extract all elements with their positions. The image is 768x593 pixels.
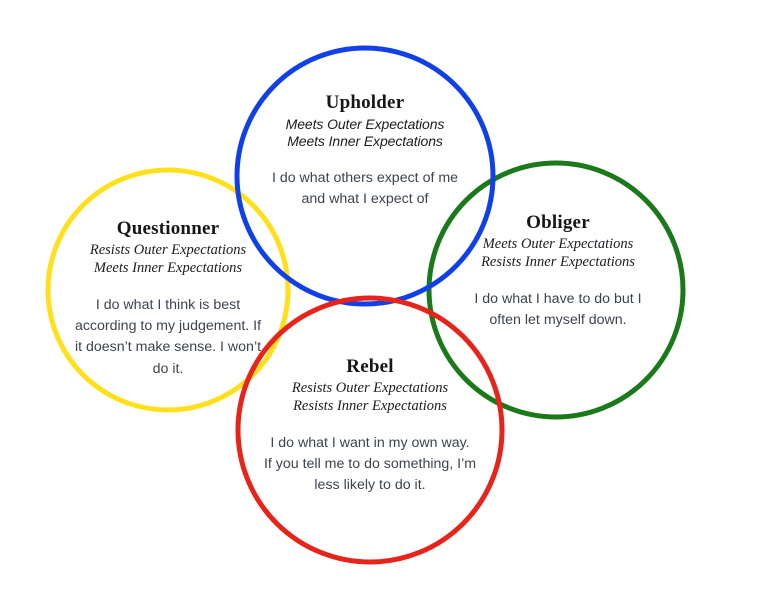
body-upholder: I do what others expect of me and what I… — [236, 168, 494, 211]
subtitle-obliger-outer: Meets Outer Expectations — [434, 236, 682, 254]
title-questionner: Questionner — [44, 218, 292, 240]
label-upholder: Upholder Meets Outer Expectations Meets … — [236, 92, 494, 210]
body-obliger: I do what I have to do but I often let m… — [434, 289, 682, 332]
label-obliger: Obliger Meets Outer Expectations Resists… — [434, 212, 682, 331]
label-rebel: Rebel Resists Outer Expectations Resists… — [240, 356, 500, 497]
title-obliger: Obliger — [434, 212, 682, 234]
body-rebel: I do what I want in my own way. If you t… — [240, 433, 500, 497]
body-line: If you tell me to do something, I’m — [240, 454, 500, 475]
four-tendencies-diagram: Upholder Meets Outer Expectations Meets … — [0, 0, 768, 593]
subtitle-rebel-outer: Resists Outer Expectations — [240, 380, 500, 398]
subtitle-obliger-inner: Resists Inner Expectations — [434, 254, 682, 272]
body-line: according to my judgement. If — [44, 316, 292, 337]
subtitle-questionner-inner: Meets Inner Expectations — [44, 260, 292, 278]
subtitle-questionner-outer: Resists Outer Expectations — [44, 242, 292, 260]
body-line: I do what I think is best — [44, 295, 292, 316]
title-upholder: Upholder — [236, 92, 494, 114]
body-line: I do what others expect of me — [236, 168, 494, 189]
title-rebel: Rebel — [240, 356, 500, 378]
body-line: often let myself down. — [434, 310, 682, 331]
body-line: and what I expect of — [236, 189, 494, 210]
body-line: less likely to do it. — [240, 475, 500, 496]
body-line: I do what I have to do but I — [434, 289, 682, 310]
body-line: I do what I want in my own way. — [240, 433, 500, 454]
subtitle-rebel-inner: Resists Inner Expectations — [240, 398, 500, 416]
subtitle-upholder-outer: Meets Outer Expectations — [236, 116, 494, 133]
subtitle-upholder-inner: Meets Inner Expectations — [236, 133, 494, 150]
